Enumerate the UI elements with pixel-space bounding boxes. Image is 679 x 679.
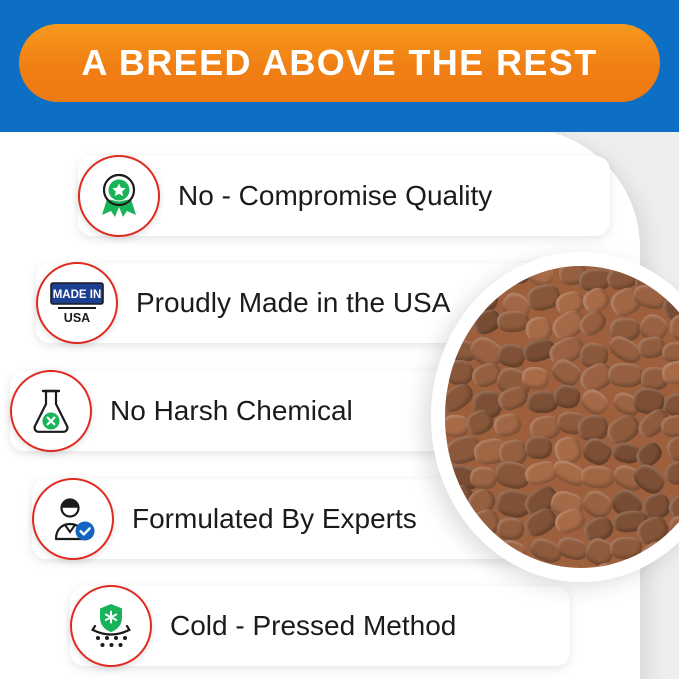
cold-pressed-icon — [70, 585, 152, 667]
page-title: A BREED ABOVE THE REST — [81, 42, 597, 84]
kibble-piece — [497, 311, 529, 333]
quality-rosette-icon — [78, 155, 160, 237]
feature-label: No - Compromise Quality — [178, 180, 492, 212]
header-band: A BREED ABOVE THE REST — [0, 0, 679, 132]
feature-row: No Harsh Chemical — [10, 365, 353, 457]
kibble-piece — [497, 517, 526, 541]
kibble-piece — [629, 460, 669, 499]
kibble-piece — [575, 307, 609, 340]
kibble-piece — [445, 379, 477, 417]
kibble-piece — [609, 536, 641, 558]
feature-row: No - Compromise Quality — [78, 150, 492, 242]
feature-label: Proudly Made in the USA — [136, 287, 450, 319]
made-in-usa-badge-icon: MADE IN USA — [36, 262, 118, 344]
kibble-piece — [524, 435, 551, 459]
feature-row: Formulated By Experts — [32, 473, 417, 565]
kibble-bowl-inner — [445, 266, 679, 568]
kibble-piece — [580, 465, 614, 489]
poster: A BREED ABOVE THE REST No - Compromise Q… — [0, 0, 679, 679]
title-pill: A BREED ABOVE THE REST — [19, 24, 660, 102]
feature-label: Formulated By Experts — [132, 503, 417, 535]
expert-veterinarian-icon — [32, 478, 114, 560]
kibble-piece — [445, 360, 473, 386]
feature-row: Cold - Pressed Method — [70, 580, 456, 672]
feature-row: MADE IN USA Proudly Made in the USA — [36, 257, 450, 349]
kibble-piece — [521, 365, 550, 390]
kibble-bowl — [431, 252, 679, 582]
kibble-piece — [663, 459, 679, 488]
no-chemicals-flask-icon — [10, 370, 92, 452]
feature-label: Cold - Pressed Method — [170, 610, 456, 642]
feature-label: No Harsh Chemical — [110, 395, 353, 427]
svg-text:MADE IN: MADE IN — [53, 289, 102, 301]
kibble-piece — [607, 362, 643, 389]
svg-text:USA: USA — [64, 311, 90, 325]
kibble-piece — [496, 341, 527, 369]
